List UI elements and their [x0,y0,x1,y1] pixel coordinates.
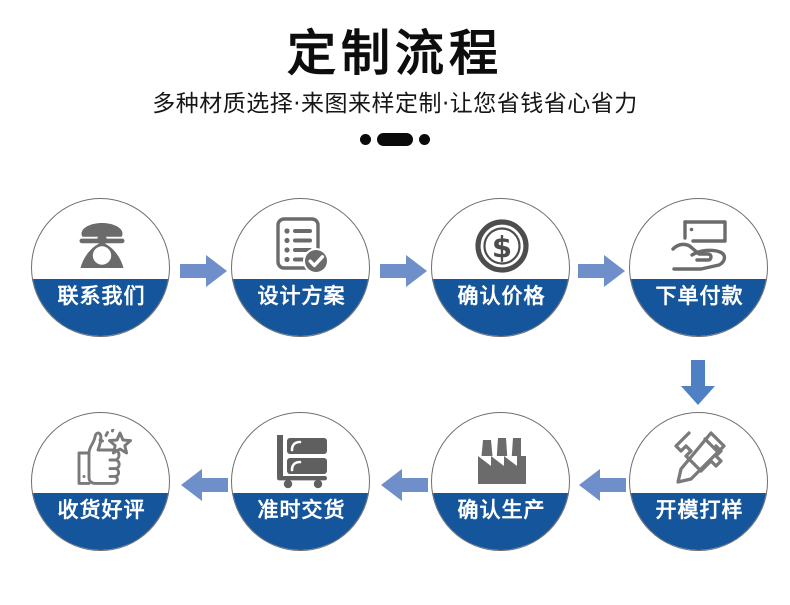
separator-dot-left [360,134,371,145]
separator-bar [377,133,413,146]
step-circle: 开模打样 [629,412,768,551]
step-circle: 确认生产 [431,412,570,551]
step-label-band: 确认生产 [432,493,570,550]
telephone-icon [32,207,170,285]
flow-row-1: 联系我们 [0,198,790,343]
thumbs-up-star-icon [32,421,170,499]
flow-step-receive-review[interactable]: 收货好评 [31,412,170,551]
arrow-right-1 [180,254,228,288]
page-title: 定制流程 [0,28,790,81]
step-label: 准时交货 [258,499,346,522]
flow-step-on-time-delivery[interactable]: 准时交货 [231,412,370,551]
step-label: 下单付款 [656,285,744,308]
flow-row-2: 收货好评 [0,412,790,557]
step-label-band: 准时交货 [232,493,370,550]
arrow-left-1 [180,468,228,502]
customization-flow-page: 定制流程 多种材质选择·来图来样定制·让您省钱省心省力 [0,0,790,605]
step-label-band: 联系我们 [32,279,170,336]
step-label: 确认生产 [458,499,546,522]
step-label-band: 确认价格 [432,279,570,336]
step-label: 联系我们 [58,285,146,308]
arrow-left-3 [578,468,626,502]
step-label-band: 收货好评 [32,493,170,550]
flow-step-place-order[interactable]: 下单付款 [629,198,768,337]
step-label-band: 设计方案 [232,279,370,336]
step-label-band: 开模打样 [630,493,768,550]
flow-step-design-plan[interactable]: 设计方案 [231,198,370,337]
step-circle: 收货好评 [31,412,170,551]
step-label: 设计方案 [258,285,346,308]
step-label: 开模打样 [656,499,744,522]
svg-text:$: $ [491,231,511,265]
dot-separator [349,133,441,146]
step-circle: $ 确认价格 [431,198,570,337]
flow-step-mold-sample[interactable]: 开模打样 [629,412,768,551]
step-circle: 联系我们 [31,198,170,337]
step-label: 收货好评 [58,499,146,522]
step-circle: 下单付款 [629,198,768,337]
hand-card-icon [630,207,768,285]
delivery-trolley-icon [232,421,370,499]
document-check-icon [232,207,370,285]
step-label: 确认价格 [458,285,546,308]
page-header: 定制流程 多种材质选择·来图来样定制·让您省钱省心省力 [0,28,790,146]
arrow-right-3 [578,254,626,288]
dollar-coin-icon: $ [432,207,570,285]
separator-dot-right [419,134,430,145]
flow-step-confirm-price[interactable]: $ 确认价格 [431,198,570,337]
flow-step-contact-us[interactable]: 联系我们 [31,198,170,337]
arrow-right-2 [380,254,428,288]
step-label-band: 下单付款 [630,279,768,336]
arrow-down-connector [680,360,716,406]
pencil-tool-icon [630,421,768,499]
arrow-left-2 [380,468,428,502]
flow-step-confirm-production[interactable]: 确认生产 [431,412,570,551]
step-circle: 设计方案 [231,198,370,337]
page-subtitle: 多种材质选择·来图来样定制·让您省钱省心省力 [0,92,790,117]
step-circle: 准时交货 [231,412,370,551]
factory-icon [432,421,570,499]
